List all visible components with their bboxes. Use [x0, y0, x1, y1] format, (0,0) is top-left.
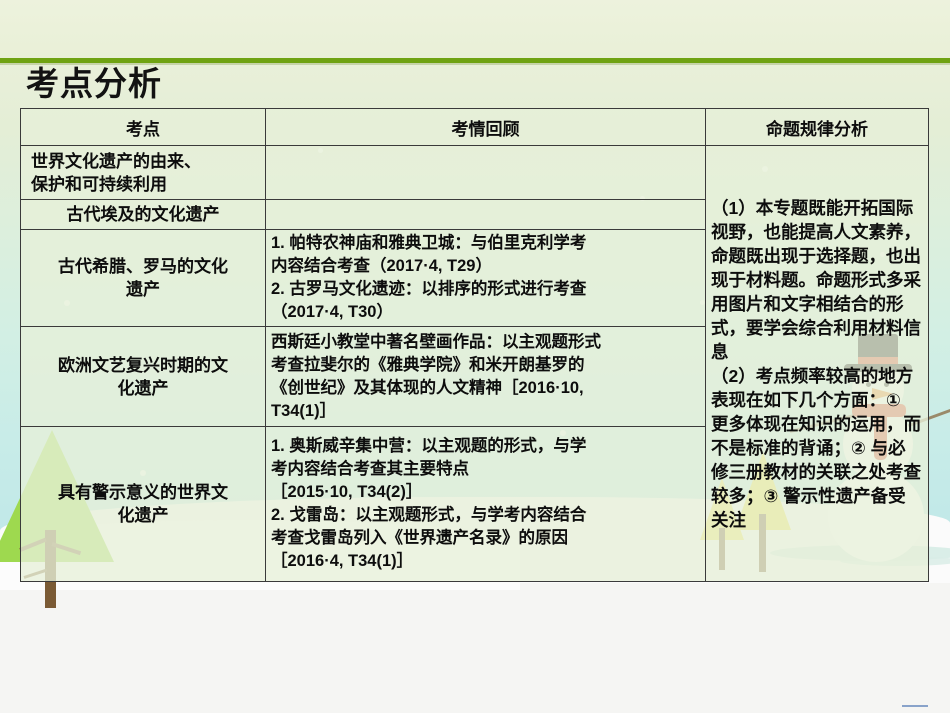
- background-bottom-band: [0, 583, 950, 713]
- cell-kaoqing-1: [266, 146, 706, 200]
- slide-canvas: 考点分析 考点 考情回顾 命题规律分析 世界文化遗产的由来、 保护和可持续利用: [0, 0, 950, 713]
- kaoqing-line: 2. 戈雷岛：以主观题形式，与学考内容结合: [271, 504, 700, 527]
- kaodian-line: 遗产: [26, 278, 260, 301]
- kaoqing-line: 考查戈雷岛列入《世界遗产名录》的原因: [271, 527, 700, 550]
- kaodian-line: 欧洲文艺复兴时期的文: [26, 354, 260, 377]
- kaoqing-line: 西斯廷小教堂中著名壁画作品：以主观题形式: [271, 331, 700, 354]
- kaodian-line: 化遗产: [26, 504, 260, 527]
- kaodian-line: 化遗产: [26, 377, 260, 400]
- kaodian-line: 古代希腊、罗马的文化: [26, 255, 260, 278]
- cell-kaoqing-3: 1. 帕特农神庙和雅典卫城：与伯里克利学考 内容结合考查（2017·4, T29…: [266, 230, 706, 327]
- kaodian-line: 古代埃及的文化遗产: [26, 203, 260, 226]
- cell-kaodian-1: 世界文化遗产的由来、 保护和可持续利用: [21, 146, 266, 200]
- kaoqing-line: 1. 奥斯威辛集中营：以主观题的形式，与学: [271, 435, 700, 458]
- cell-kaoqing-2: [266, 200, 706, 230]
- kaoqing-line: ［2016·4, T34(1)］: [271, 550, 700, 573]
- kaodian-line: 世界文化遗产的由来、: [31, 150, 260, 173]
- column-header-kaodian: 考点: [21, 109, 266, 146]
- exam-analysis-table: 考点 考情回顾 命题规律分析 世界文化遗产的由来、 保护和可持续利用 （1）本专…: [20, 108, 928, 580]
- cell-kaodian-3: 古代希腊、罗马的文化 遗产: [21, 230, 266, 327]
- kaoqing-line: 考内容结合考查其主要特点: [271, 458, 700, 481]
- kaodian-line: 保护和可持续利用: [31, 173, 260, 196]
- column-header-guilv: 命题规律分析: [706, 109, 929, 146]
- kaoqing-line: 考查拉斐尔的《雅典学院》和米开朗基罗的: [271, 354, 700, 377]
- cell-kaoqing-5: 1. 奥斯威辛集中营：以主观题的形式，与学 考内容结合考查其主要特点 ［2015…: [266, 427, 706, 582]
- header-band: [0, 0, 950, 58]
- page-marker: [902, 705, 928, 707]
- rule-paragraph-1: （1）本专题既能开拓国际视野，也能提高人文素养，命题既出现于选择题，也出现于材料…: [711, 196, 923, 364]
- cell-kaodian-4: 欧洲文艺复兴时期的文 化遗产: [21, 327, 266, 427]
- kaoqing-line: 《创世纪》及其体现的人文精神［2016·10,: [271, 377, 700, 400]
- kaoqing-line: T34(1)］: [271, 400, 700, 423]
- kaodian-line: 具有警示意义的世界文: [26, 481, 260, 504]
- cell-rule-analysis: （1）本专题既能开拓国际视野，也能提高人文素养，命题既出现于选择题，也出现于材料…: [706, 146, 929, 582]
- cell-kaodian-5: 具有警示意义的世界文 化遗产: [21, 427, 266, 582]
- kaoqing-line: （2017·4, T30）: [271, 301, 700, 324]
- page-title: 考点分析: [26, 64, 162, 104]
- cell-kaoqing-4: 西斯廷小教堂中著名壁画作品：以主观题形式 考查拉斐尔的《雅典学院》和米开朗基罗的…: [266, 327, 706, 427]
- kaoqing-line: 2. 古罗马文化遗迹：以排序的形式进行考查: [271, 278, 700, 301]
- rule-paragraph-2: （2）考点频率较高的地方表现在如下几个方面：① 更多体现在知识的运用，而不是标准…: [711, 364, 923, 532]
- kaoqing-line: ［2015·10, T34(2)］: [271, 481, 700, 504]
- kaoqing-line: 1. 帕特农神庙和雅典卫城：与伯里克利学考: [271, 232, 700, 255]
- table-header-row: 考点 考情回顾 命题规律分析: [21, 109, 929, 146]
- column-header-kaoqing: 考情回顾: [266, 109, 706, 146]
- kaoqing-line: 内容结合考查（2017·4, T29）: [271, 255, 700, 278]
- cell-kaodian-2: 古代埃及的文化遗产: [21, 200, 266, 230]
- table-row: 世界文化遗产的由来、 保护和可持续利用 （1）本专题既能开拓国际视野，也能提高人…: [21, 146, 929, 200]
